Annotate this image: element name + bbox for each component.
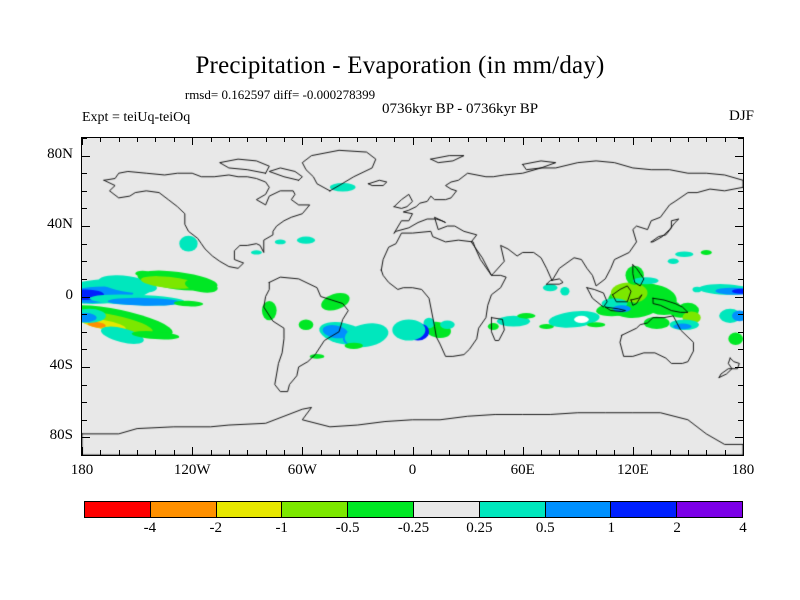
y-minor-tick-right	[738, 349, 743, 350]
colorbar-tick-label: -2	[210, 520, 223, 537]
y-minor-tick-right	[738, 332, 743, 333]
x-minor-tick	[321, 450, 322, 455]
y-minor-tick	[82, 314, 87, 315]
y-major-tick-right	[735, 367, 743, 368]
x-major-tick-top	[523, 137, 524, 145]
x-minor-tick	[449, 450, 450, 455]
y-minor-tick-right	[738, 279, 743, 280]
colorbar-tick-label: -4	[144, 520, 157, 537]
x-minor-tick-top	[670, 137, 671, 142]
x-minor-tick-top	[137, 137, 138, 142]
x-axis-tick-label: 120W	[152, 462, 232, 479]
x-minor-tick	[614, 450, 615, 455]
x-minor-tick	[486, 450, 487, 455]
x-major-tick-top	[633, 137, 634, 145]
x-major-tick	[523, 447, 524, 455]
y-major-tick-right	[735, 297, 743, 298]
x-minor-tick	[284, 450, 285, 455]
y-minor-tick	[82, 385, 87, 386]
x-minor-tick	[578, 450, 579, 455]
y-major-tick	[82, 297, 90, 298]
map-plot-area	[81, 137, 744, 456]
y-minor-tick-right	[738, 191, 743, 192]
y-minor-tick	[82, 208, 87, 209]
x-axis-tick-label: 60E	[483, 462, 563, 479]
x-minor-tick-top	[174, 137, 175, 142]
x-minor-tick-top	[211, 137, 212, 142]
x-minor-tick-top	[431, 137, 432, 142]
colorbar-tick-label: 4	[739, 520, 747, 537]
y-major-tick	[82, 156, 90, 157]
y-minor-tick-right	[738, 420, 743, 421]
colorbar-tick-label: -0.25	[398, 520, 429, 537]
x-minor-tick	[266, 450, 267, 455]
x-major-tick-top	[302, 137, 303, 145]
x-minor-tick	[541, 450, 542, 455]
x-axis-tick-label: 120E	[593, 462, 673, 479]
y-minor-tick	[82, 349, 87, 350]
x-minor-tick	[651, 450, 652, 455]
y-minor-tick-right	[738, 402, 743, 403]
x-minor-tick	[100, 450, 101, 455]
colorbar-swatch-orange	[151, 502, 217, 517]
colorbar-tick-label: 0.25	[466, 520, 492, 537]
x-major-tick	[633, 447, 634, 455]
x-axis-tick-label: 180	[703, 462, 783, 479]
colorbar-swatch-blue	[611, 502, 677, 517]
x-minor-tick	[504, 450, 505, 455]
x-minor-tick-top	[229, 137, 230, 142]
colorbar-tick-label: -1	[275, 520, 288, 537]
x-minor-tick	[468, 450, 469, 455]
x-minor-tick-top	[449, 137, 450, 142]
x-minor-tick	[357, 450, 358, 455]
y-minor-tick-right	[738, 208, 743, 209]
x-minor-tick	[155, 450, 156, 455]
y-minor-tick	[82, 279, 87, 280]
x-minor-tick-top	[486, 137, 487, 142]
y-minor-tick-right	[738, 385, 743, 386]
x-minor-tick	[688, 450, 689, 455]
x-minor-tick-top	[247, 137, 248, 142]
y-minor-tick	[82, 332, 87, 333]
x-minor-tick	[725, 450, 726, 455]
x-minor-tick	[211, 450, 212, 455]
x-minor-tick-top	[651, 137, 652, 142]
colorbar-swatch-neutral-gray	[414, 502, 480, 517]
experiment-annotation: Expt = teiUq-teiOq	[82, 110, 190, 126]
x-minor-tick-top	[100, 137, 101, 142]
y-axis-tick-label: 40S	[15, 357, 73, 374]
x-minor-tick	[670, 450, 671, 455]
x-minor-tick	[596, 450, 597, 455]
x-minor-tick	[559, 450, 560, 455]
colorbar: -4-2-1-0.5-0.250.250.5124	[84, 501, 743, 518]
colorbar-swatch-violet	[677, 502, 742, 517]
y-major-tick	[82, 367, 90, 368]
x-minor-tick-top	[376, 137, 377, 142]
x-minor-tick-top	[596, 137, 597, 142]
y-minor-tick-right	[738, 314, 743, 315]
x-minor-tick	[339, 450, 340, 455]
x-major-tick-top	[192, 137, 193, 145]
x-minor-tick-top	[688, 137, 689, 142]
colorbar-swatch-green	[348, 502, 414, 517]
x-minor-tick-top	[119, 137, 120, 142]
y-minor-tick	[82, 420, 87, 421]
y-axis-tick-label: 0	[15, 287, 73, 304]
x-minor-tick	[706, 450, 707, 455]
colorbar-swatch-yellow	[217, 502, 283, 517]
y-major-tick-right	[735, 437, 743, 438]
y-minor-tick	[82, 244, 87, 245]
period-annotation: 0736kyr BP - 0736kyr BP	[180, 101, 740, 118]
x-minor-tick-top	[504, 137, 505, 142]
y-minor-tick	[82, 138, 87, 139]
colorbar-tick-label: -0.5	[336, 520, 360, 537]
x-minor-tick-top	[559, 137, 560, 142]
colorbar-swatch-red	[85, 502, 151, 517]
x-minor-tick	[394, 450, 395, 455]
y-minor-tick-right	[738, 261, 743, 262]
colorbar-swatches	[84, 501, 743, 518]
x-minor-tick-top	[468, 137, 469, 142]
y-major-tick-right	[735, 226, 743, 227]
x-minor-tick-top	[541, 137, 542, 142]
y-minor-tick-right	[738, 244, 743, 245]
x-major-tick	[413, 447, 414, 455]
x-minor-tick-top	[394, 137, 395, 142]
colorbar-swatch-light-blue	[546, 502, 612, 517]
x-minor-tick-top	[155, 137, 156, 142]
x-axis-tick-label: 60W	[262, 462, 342, 479]
y-axis-tick-label: 80N	[15, 146, 73, 163]
y-minor-tick	[82, 191, 87, 192]
x-minor-tick-top	[725, 137, 726, 142]
x-minor-tick-top	[266, 137, 267, 142]
x-axis-tick-label: 0	[373, 462, 453, 479]
y-major-tick-right	[735, 156, 743, 157]
x-major-tick	[302, 447, 303, 455]
y-axis-tick-label: 80S	[15, 427, 73, 444]
page-title: Precipitation - Evaporation (in mm/day)	[0, 52, 800, 80]
y-axis-tick-label: 40N	[15, 216, 73, 233]
y-minor-tick-right	[738, 173, 743, 174]
x-minor-tick	[229, 450, 230, 455]
x-major-tick	[192, 447, 193, 455]
x-minor-tick-top	[321, 137, 322, 142]
y-major-tick	[82, 437, 90, 438]
colorbar-tick-label: 2	[673, 520, 681, 537]
y-minor-tick	[82, 173, 87, 174]
x-minor-tick-top	[578, 137, 579, 142]
x-minor-tick-top	[357, 137, 358, 142]
colorbar-swatch-yellow-green	[282, 502, 348, 517]
x-axis-tick-label: 180	[42, 462, 122, 479]
world-map-heatmap	[82, 138, 743, 455]
x-minor-tick	[137, 450, 138, 455]
y-major-tick	[82, 226, 90, 227]
x-minor-tick-top	[284, 137, 285, 142]
colorbar-tick-label: 1	[607, 520, 615, 537]
x-minor-tick	[431, 450, 432, 455]
figure-root: Precipitation - Evaporation (in mm/day) …	[0, 0, 800, 600]
y-minor-tick	[82, 261, 87, 262]
colorbar-swatch-cyan	[480, 502, 546, 517]
y-minor-tick-right	[738, 138, 743, 139]
x-major-tick-top	[413, 137, 414, 145]
x-minor-tick	[247, 450, 248, 455]
x-minor-tick	[376, 450, 377, 455]
x-minor-tick	[174, 450, 175, 455]
season-annotation: DJF	[729, 108, 754, 125]
x-minor-tick-top	[614, 137, 615, 142]
y-minor-tick	[82, 402, 87, 403]
x-minor-tick-top	[706, 137, 707, 142]
colorbar-tick-label: 0.5	[536, 520, 555, 537]
x-minor-tick-top	[339, 137, 340, 142]
x-major-tick	[82, 447, 83, 455]
x-minor-tick	[119, 450, 120, 455]
